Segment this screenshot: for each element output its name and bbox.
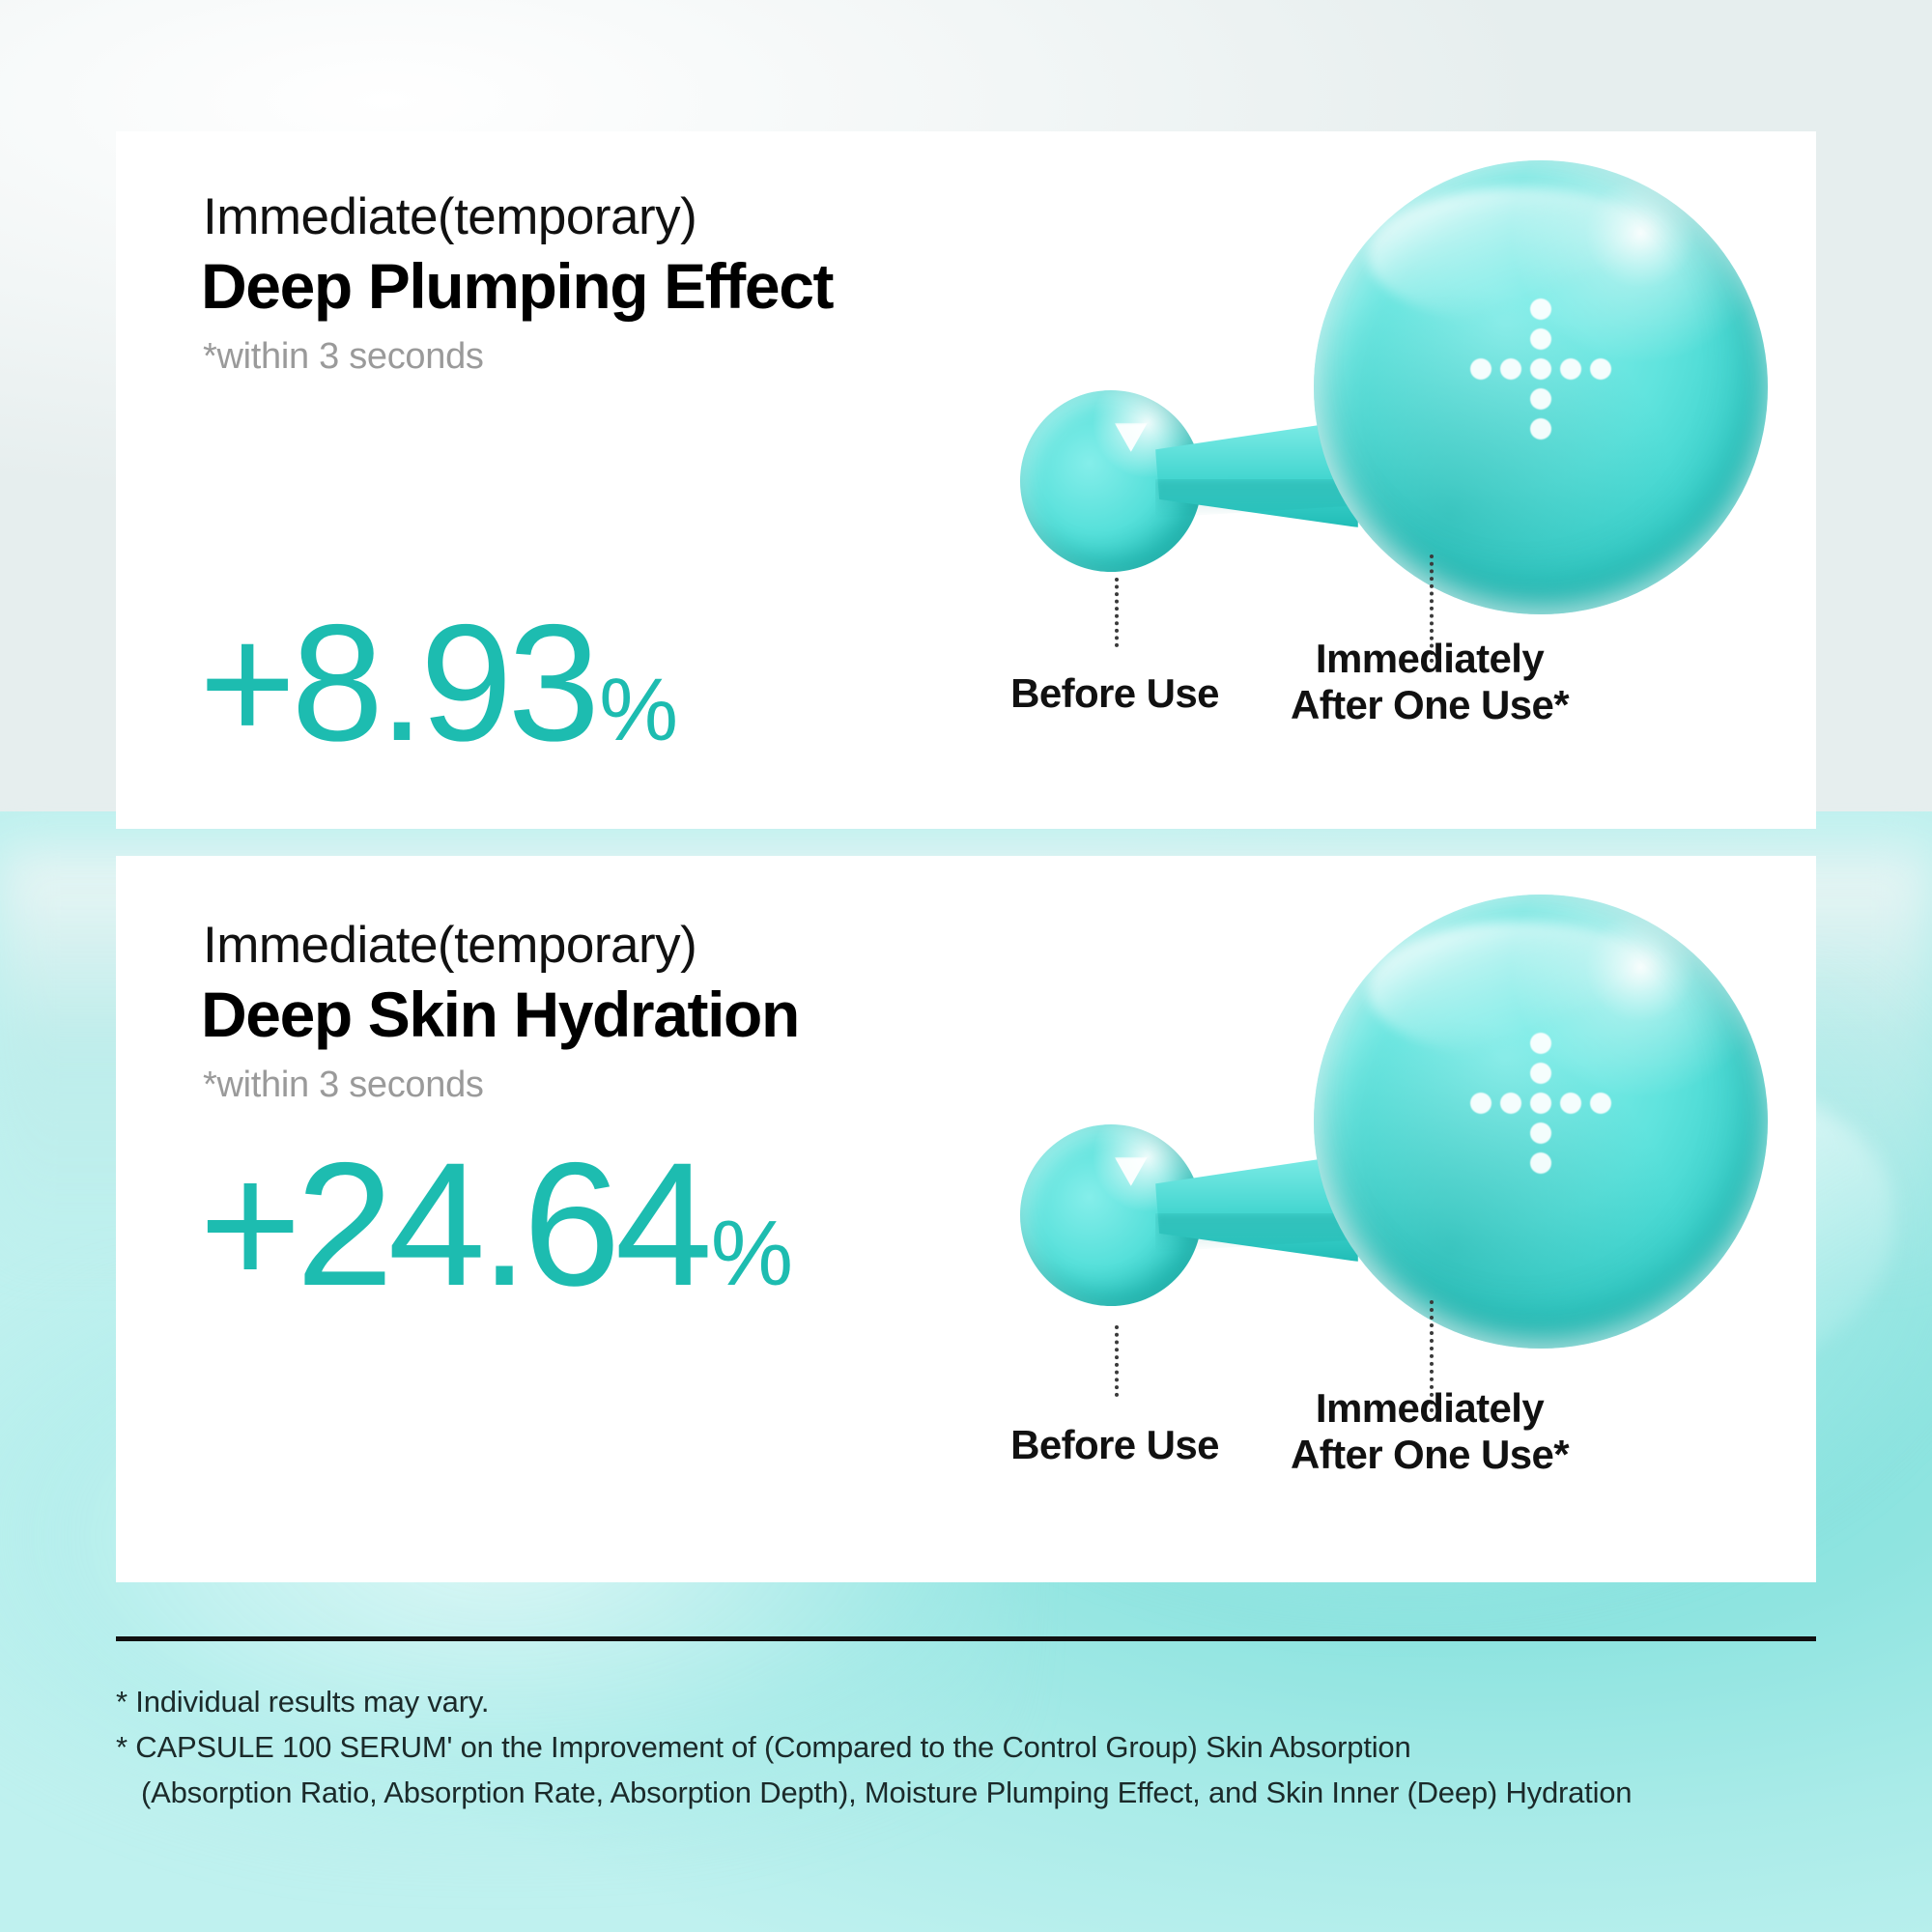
stat-percent-symbol: % xyxy=(711,1201,791,1307)
footnote-line-3: (Absorption Ratio, Absorption Rate, Abso… xyxy=(116,1770,1855,1815)
label-after-line2: After One Use* xyxy=(1291,682,1569,727)
card-kicker: Immediate(temporary) xyxy=(203,916,696,975)
stat-value-group: +24.64 % xyxy=(199,1146,791,1307)
leader-line-before xyxy=(1115,578,1119,647)
efficacy-card-plumping: Immediate(temporary) Deep Plumping Effec… xyxy=(116,131,1816,829)
droplet-illustration: Before Use Immediately After One Use* xyxy=(985,895,1777,1532)
card-note: *within 3 seconds xyxy=(203,336,484,378)
stat-number: +8.93 xyxy=(199,609,595,758)
label-before-use: Before Use xyxy=(1010,1422,1219,1468)
footnotes: * Individual results may vary. * CAPSULE… xyxy=(116,1679,1855,1815)
footnote-line-2: * CAPSULE 100 SERUM' on the Improvement … xyxy=(116,1724,1855,1770)
label-after-line1: Immediately xyxy=(1316,636,1544,681)
infographic-stage: Immediate(temporary) Deep Plumping Effec… xyxy=(0,0,1932,1932)
card-note: *within 3 seconds xyxy=(203,1065,484,1106)
cross-emblem-icon xyxy=(1470,298,1611,440)
leader-line-before xyxy=(1115,1325,1119,1397)
card-headline: Deep Plumping Effect xyxy=(201,249,833,323)
stat-number: +24.64 xyxy=(199,1146,707,1304)
stat-value-group: +8.93 % xyxy=(199,609,676,761)
card-headline: Deep Skin Hydration xyxy=(201,978,799,1051)
label-before-use: Before Use xyxy=(1010,670,1219,717)
label-after-line2: After One Use* xyxy=(1291,1432,1569,1477)
stat-percent-symbol: % xyxy=(599,660,676,761)
card-kicker: Immediate(temporary) xyxy=(203,187,696,246)
label-after-use: Immediately After One Use* xyxy=(1291,636,1569,728)
footnote-line-1: * Individual results may vary. xyxy=(116,1679,1855,1724)
droplet-illustration: Before Use Immediately After One Use* xyxy=(985,160,1777,779)
large-droplet-after xyxy=(1314,160,1768,614)
label-after-use: Immediately After One Use* xyxy=(1291,1385,1569,1478)
efficacy-card-hydration: Immediate(temporary) Deep Skin Hydration… xyxy=(116,856,1816,1582)
footer-divider xyxy=(116,1636,1816,1641)
large-droplet-after xyxy=(1314,895,1768,1349)
label-after-line1: Immediately xyxy=(1316,1385,1544,1431)
cross-emblem-icon xyxy=(1470,1033,1611,1174)
